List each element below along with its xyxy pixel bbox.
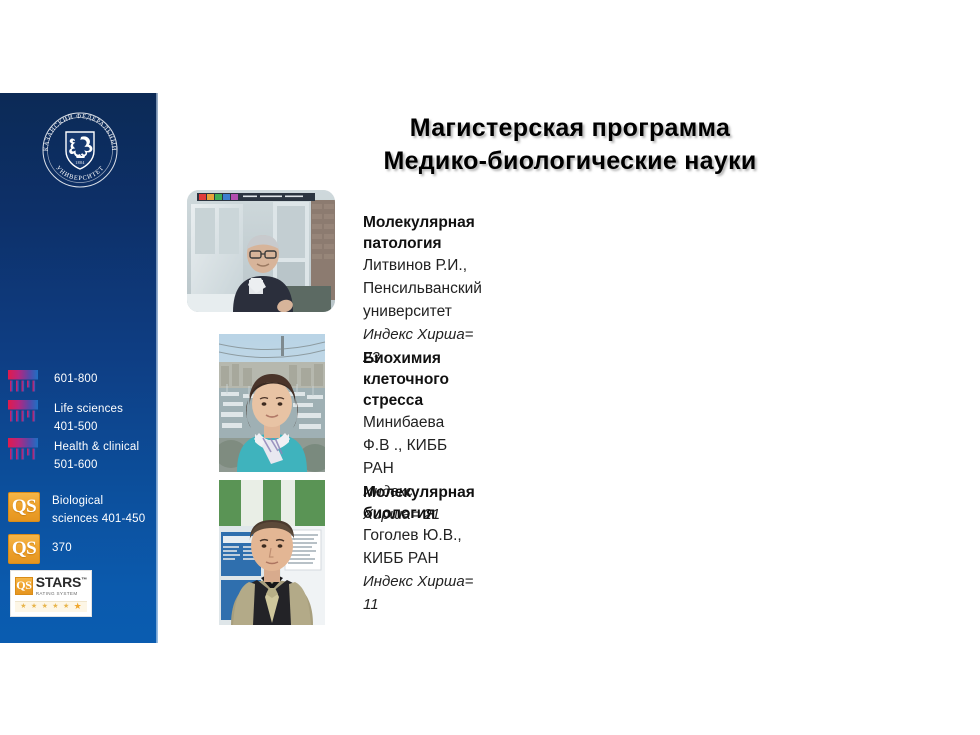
- ranking-row-the-overall: 601-800: [8, 370, 98, 392]
- ranking-label: Health & clinical 501-600: [54, 438, 139, 474]
- qs-logo-icon: QS: [8, 534, 40, 564]
- ranking-label: Biological sciences 401-450: [52, 492, 145, 528]
- entry-hirsch-index: Индекс Хирша= 11: [363, 570, 475, 616]
- qs-stars-subtitle: RATING SYSTEM: [36, 592, 87, 597]
- entry-title: Молекулярная биология: [363, 482, 475, 524]
- photo-gogolev: [219, 480, 325, 625]
- ranking-row-the-health-clinical: Health & clinical 501-600: [8, 438, 139, 474]
- the-logo-icon: [8, 400, 38, 422]
- entry-text-block: Молекулярная патология Литвинов Р.И., Пе…: [363, 212, 482, 369]
- page-title: Магистерская программа Медико-биологичес…: [200, 112, 940, 178]
- entry-title: Биохимия клеточного стресса: [363, 348, 449, 411]
- entry-person: Литвинов Р.И., Пенсильванский университе…: [363, 254, 482, 323]
- star-icon: ★: [31, 603, 37, 610]
- star-icon: ★: [63, 603, 69, 610]
- qs-logo-icon: QS: [8, 492, 40, 522]
- qs-stars-badge: QS STARS™ RATING SYSTEM ★ ★ ★ ★ ★ ★: [10, 570, 92, 617]
- ranking-row-qs-overall: QS 370: [8, 534, 72, 564]
- entry-person: Гоголев Ю.В., КИББ РАН: [363, 524, 475, 570]
- presentation-slide: КАЗАНСКИЙ ФЕДЕРАЛЬНЫЙ УНИВЕРСИТЕТ 1804: [0, 0, 980, 735]
- the-logo-icon: [8, 438, 38, 460]
- svg-text:1804: 1804: [75, 160, 85, 165]
- photo-minibaeva: [219, 334, 325, 472]
- entry-title: Молекулярная патология: [363, 212, 482, 254]
- star-icon: ★: [74, 602, 82, 611]
- ranking-row-the-life-sciences: Life sciences 401-500: [8, 400, 123, 436]
- ranking-row-qs-biological-sciences: QS Biological sciences 401-450: [8, 492, 145, 528]
- qs-stars-rating-row: ★ ★ ★ ★ ★ ★: [15, 601, 87, 612]
- ranking-label: Life sciences 401-500: [54, 400, 123, 436]
- qs-mark-icon: QS: [15, 577, 33, 595]
- star-icon: ★: [52, 603, 58, 610]
- star-icon: ★: [42, 603, 48, 610]
- photo-litvinov: [187, 190, 335, 312]
- the-logo-icon: [8, 370, 38, 392]
- entry-text-block: Молекулярная биология Гоголев Ю.В., КИББ…: [363, 482, 475, 616]
- star-icon: ★: [20, 603, 26, 610]
- qs-stars-title: STARS™: [36, 574, 87, 590]
- entry-person: Минибаева Ф.В ., КИББ РАН: [363, 411, 449, 480]
- kazan-federal-university-emblem: КАЗАНСКИЙ ФЕДЕРАЛЬНЫЙ УНИВЕРСИТЕТ 1804: [37, 107, 123, 193]
- ranking-label: 370: [52, 534, 72, 562]
- ranking-label: 601-800: [54, 370, 98, 388]
